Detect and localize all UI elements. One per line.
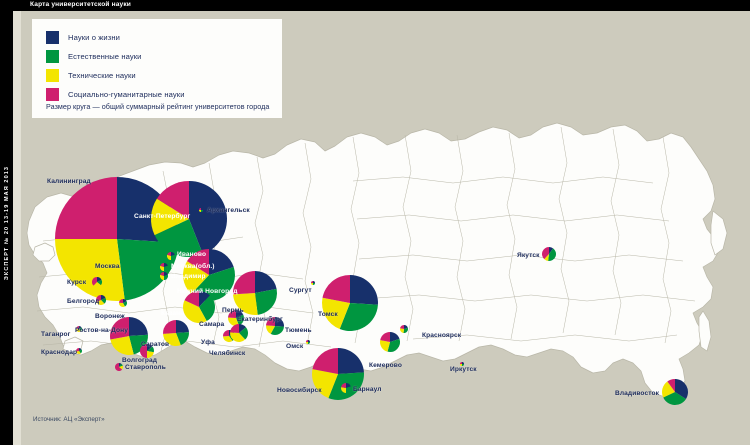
city-label: Белгород bbox=[67, 298, 99, 305]
city-label: Иркутск bbox=[450, 366, 477, 373]
legend-label-life-sciences: Науки о жизни bbox=[68, 33, 120, 42]
city-label: Москва bbox=[95, 263, 120, 270]
legend-swatch-social-humanities bbox=[46, 88, 59, 101]
city-pie bbox=[183, 291, 215, 323]
city-label: Казань bbox=[161, 310, 184, 317]
legend-item-life-sciences: Науки о жизни bbox=[46, 31, 120, 44]
city-label: Томск bbox=[318, 311, 338, 318]
city-label: Тюмень bbox=[285, 327, 312, 334]
city-pie bbox=[322, 275, 378, 331]
city-pie bbox=[160, 263, 168, 271]
city-label: Калининград bbox=[47, 178, 91, 185]
city-label: Сургут bbox=[289, 287, 312, 294]
city-label: Архангельск bbox=[207, 207, 250, 214]
city-pie bbox=[400, 325, 408, 333]
city-label: Владимир bbox=[171, 273, 206, 280]
city-label: Курск bbox=[67, 279, 86, 286]
city-label: Барнаул bbox=[353, 386, 382, 393]
city-pie bbox=[341, 383, 351, 393]
city-label: Ставрополь bbox=[125, 364, 166, 371]
city-label: Воронеж bbox=[95, 313, 125, 320]
city-pie bbox=[230, 324, 248, 342]
magazine-spine: ЭКСПЕРТ № 20 13-19 МАЯ 2013 bbox=[0, 0, 13, 445]
city-label: Санкт-Петербург bbox=[134, 213, 190, 220]
city-label: Якутск bbox=[517, 252, 540, 259]
city-pie bbox=[167, 252, 175, 260]
city-label: Москва(обл.) bbox=[171, 263, 215, 270]
legend-item-natural-sciences: Естественные науки bbox=[46, 50, 142, 63]
spine-text: ЭКСПЕРТ № 20 13-19 МАЯ 2013 bbox=[4, 165, 10, 279]
legend-swatch-natural-sciences bbox=[46, 50, 59, 63]
city-pie bbox=[311, 281, 315, 285]
title-bar: Карта университетской науки bbox=[13, 0, 750, 11]
city-label: Красноярск bbox=[422, 332, 461, 339]
city-label: Таганрог bbox=[41, 331, 71, 338]
city-label: Челябинск bbox=[209, 350, 245, 357]
city-label: Нижний Новгород bbox=[177, 288, 238, 295]
city-pie bbox=[306, 340, 310, 344]
legend-size-note: Размер круга — общий суммарный рейтинг у… bbox=[46, 102, 269, 111]
city-label: Екатеринбург bbox=[237, 316, 283, 323]
infographic-map: ЭКСПЕРТ № 20 13-19 МАЯ 2013 Карта универ… bbox=[0, 0, 750, 445]
city-label: Самара bbox=[199, 321, 224, 328]
city-label: Владивосток bbox=[615, 390, 659, 397]
city-label: Уфа bbox=[201, 339, 215, 346]
legend-label-technical-sciences: Технические науки bbox=[68, 71, 136, 80]
city-pie bbox=[542, 247, 556, 261]
city-pie bbox=[160, 272, 168, 280]
city-pie bbox=[199, 208, 203, 212]
city-pie bbox=[662, 379, 688, 405]
page-edge bbox=[13, 11, 21, 445]
city-pie bbox=[119, 299, 127, 307]
city-label: Омск bbox=[286, 343, 303, 350]
city-pie bbox=[115, 363, 123, 371]
city-label: Новосибирск bbox=[277, 387, 322, 394]
city-pie bbox=[380, 332, 400, 352]
legend-label-social-humanities: Социально-гуманитарные науки bbox=[68, 90, 185, 99]
city-label: Иваново bbox=[177, 251, 206, 258]
city-label: Краснодар bbox=[41, 349, 77, 356]
city-pie bbox=[92, 277, 102, 287]
legend-box: Науки о жизни Естественные науки Техниче… bbox=[32, 19, 282, 118]
city-label: Пермь bbox=[222, 307, 244, 314]
legend-item-social-humanities: Социально-гуманитарные науки bbox=[46, 88, 185, 101]
city-label: Кемерово bbox=[369, 362, 402, 369]
city-label: Ростов-на-Дону bbox=[75, 327, 128, 334]
legend-item-technical-sciences: Технические науки bbox=[46, 69, 136, 82]
legend-swatch-life-sciences bbox=[46, 31, 59, 44]
source-note: Источник: АЦ «Эксперт» bbox=[33, 416, 105, 423]
city-label: Саратов bbox=[141, 341, 169, 348]
page-title: Карта университетской науки bbox=[30, 1, 131, 8]
legend-label-natural-sciences: Естественные науки bbox=[68, 52, 142, 61]
legend-swatch-technical-sciences bbox=[46, 69, 59, 82]
city-label: Волгоград bbox=[122, 357, 157, 364]
